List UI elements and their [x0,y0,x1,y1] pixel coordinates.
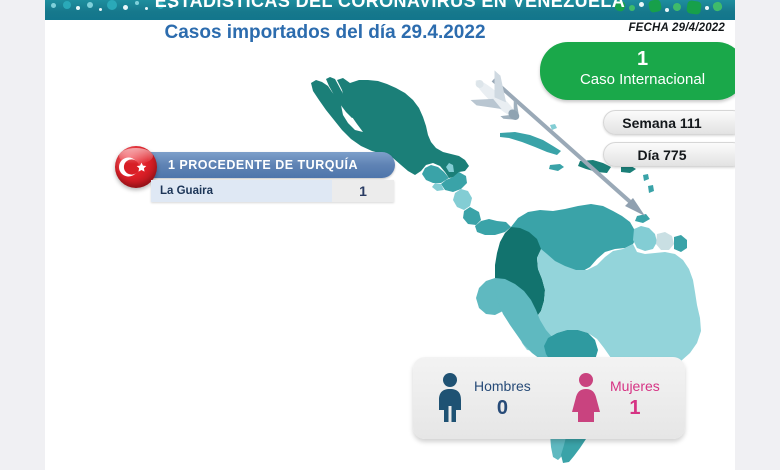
dia-pill: Día 775 [603,142,735,167]
flag-gloss [119,148,153,164]
gender-panel: Hombres 0 Mujeres 1 [413,357,685,439]
semana-label: Semana 111 [622,115,701,131]
origin-card-title: 1 PROCEDENTE DE TURQUÍA [120,152,395,178]
airplane-icon [464,66,532,132]
map-island-antilles2 [648,185,654,193]
right-margin-strip [735,0,780,470]
gender-item-men: Hombres 0 [413,372,549,424]
men-value: 0 [474,396,531,420]
map-country-suriname [656,232,674,250]
origin-row-count: 1 [332,180,394,202]
origin-row-state: La Guaira [151,180,332,202]
men-label: Hombres [474,376,531,396]
women-value: 1 [610,396,660,420]
table-row: La Guaira 1 [151,180,394,202]
dia-label: Día 775 [637,147,686,163]
banner-title: ESTADÍSTICAS DEL CORONAVIRUS EN VENEZUEL… [45,0,735,12]
women-text-group: Mujeres 1 [610,376,660,420]
male-icon [435,372,465,424]
semana-pill: Semana 111 [603,110,735,135]
map-island-antilles1 [643,174,649,181]
international-case-pill: 1 Caso Internacional [540,42,735,100]
international-count: 1 [540,42,735,70]
international-label: Caso Internacional [540,70,735,89]
map-country-costarica [463,207,481,225]
female-icon [571,372,601,424]
map-country-guyana [633,226,657,251]
map-island-puertorico [621,166,636,173]
left-margin-strip [0,0,45,470]
map-island-cuba [500,132,561,155]
header-banner: ESTADÍSTICAS DEL CORONAVIRUS EN VENEZUEL… [45,0,735,20]
map-country-nicaragua [453,189,472,210]
men-text-group: Hombres 0 [474,376,531,420]
map-island-jamaica [549,164,564,171]
gender-item-women: Mujeres 1 [549,372,685,424]
map-island-trinidad [635,214,650,223]
infographic-canvas: ESTADÍSTICAS DEL CORONAVIRUS EN VENEZUEL… [45,0,735,470]
women-label: Mujeres [610,376,660,396]
map-country-frenchguiana [674,235,687,252]
